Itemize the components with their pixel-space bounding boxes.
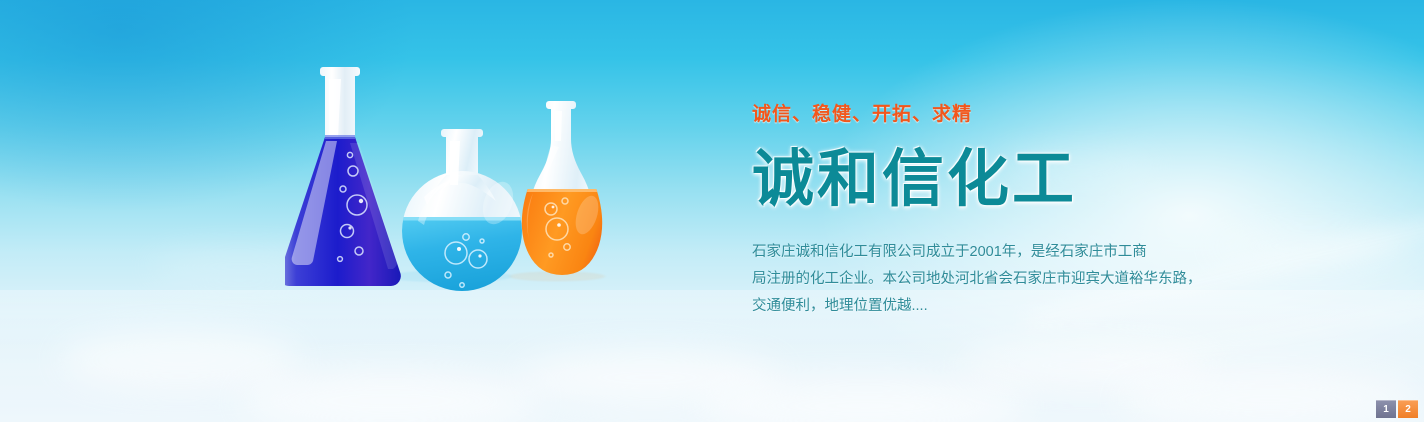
cloud-decoration <box>1120 372 1420 422</box>
cloud-decoration <box>960 340 1210 390</box>
description-line: 交通便利，地理位置优越.... <box>752 293 1222 320</box>
laboratory-flasks-illustration <box>285 55 630 320</box>
pagination-button-2[interactable]: 2 <box>1398 400 1418 418</box>
hero-banner: 诚信、稳健、开拓、求精 诚和信化工 石家庄诚和信化工有限公司成立于2001年，是… <box>0 0 1424 422</box>
banner-text-block: 诚信、稳健、开拓、求精 诚和信化工 石家庄诚和信化工有限公司成立于2001年，是… <box>752 104 1222 320</box>
cloud-decoration <box>700 378 1030 422</box>
pear-flask-orange <box>507 97 617 297</box>
carousel-pagination: 1 2 <box>1376 400 1418 418</box>
description-line: 石家庄诚和信化工有限公司成立于2001年，是经石家庄市工商 <box>752 239 1222 266</box>
company-description: 石家庄诚和信化工有限公司成立于2001年，是经石家庄市工商 局注册的化工企业。本… <box>752 239 1222 320</box>
cloud-decoration <box>60 330 300 390</box>
description-line: 局注册的化工企业。本公司地处河北省会石家庄市迎宾大道裕华东路， <box>752 266 1222 293</box>
banner-tagline: 诚信、稳健、开拓、求精 <box>752 104 1222 127</box>
cloud-decoration <box>240 372 540 422</box>
cloud-decoration <box>1210 226 1410 266</box>
cloud-decoration <box>520 350 780 405</box>
company-title: 诚和信化工 <box>752 147 1222 213</box>
pagination-button-1[interactable]: 1 <box>1376 400 1396 418</box>
